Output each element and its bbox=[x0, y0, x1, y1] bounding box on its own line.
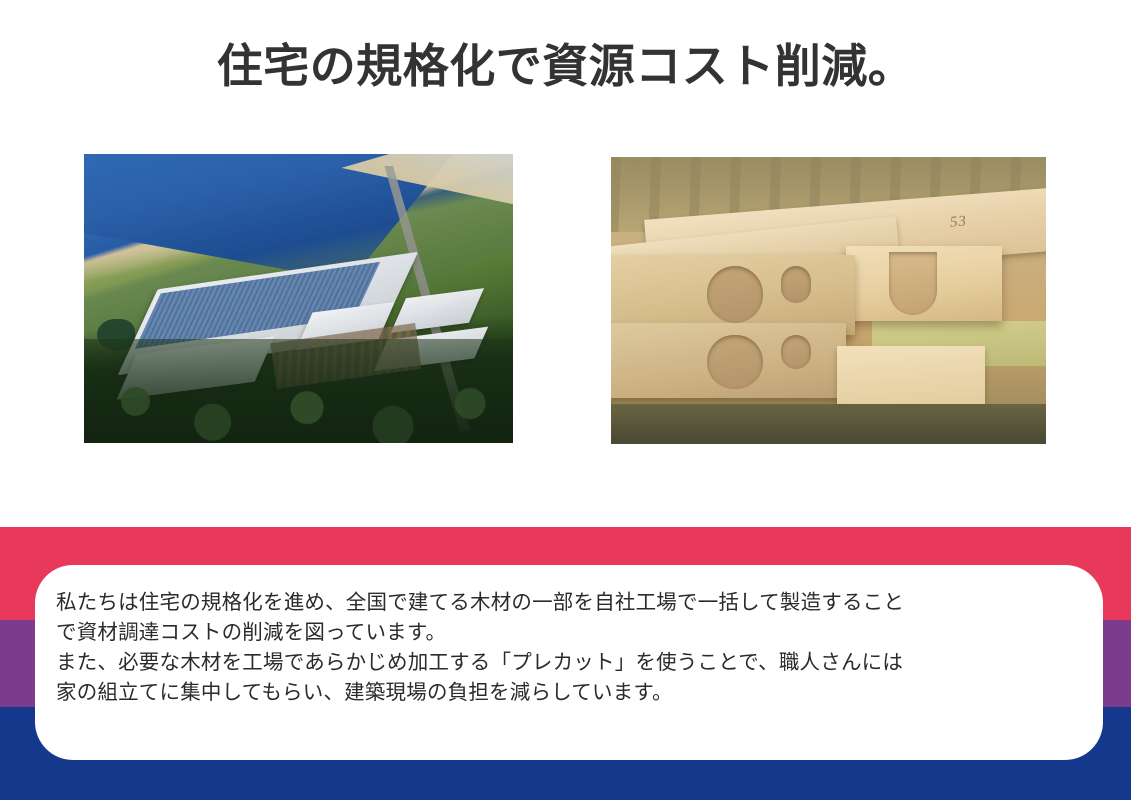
description-text: 私たちは住宅の規格化を進め、全国で建てる木材の一部を自社工場で一括して製造するこ… bbox=[56, 587, 1083, 707]
timber-stamp-label: 53 bbox=[950, 214, 968, 232]
page-title: 住宅の規格化で資源コスト削減。 bbox=[0, 38, 1131, 94]
timber-notch-2 bbox=[707, 335, 764, 390]
slide-root: 住宅の規格化で資源コスト削減。 bbox=[0, 0, 1131, 800]
forest-region bbox=[84, 339, 513, 443]
timber-notch-3 bbox=[781, 266, 811, 303]
timber-notch-1 bbox=[707, 266, 764, 323]
description-card: 私たちは住宅の規格化を進め、全国で建てる木材の一部を自社工場で一括して製造するこ… bbox=[35, 565, 1103, 760]
timber-lower-board bbox=[837, 346, 985, 403]
precut-timber-photo: 53 bbox=[611, 157, 1046, 444]
workshop-floor bbox=[611, 404, 1046, 444]
photo-row: 53 bbox=[0, 154, 1131, 446]
timber-notch-right bbox=[889, 252, 937, 315]
timber-notch-4 bbox=[781, 335, 811, 369]
aerial-factory-photo bbox=[84, 154, 513, 443]
